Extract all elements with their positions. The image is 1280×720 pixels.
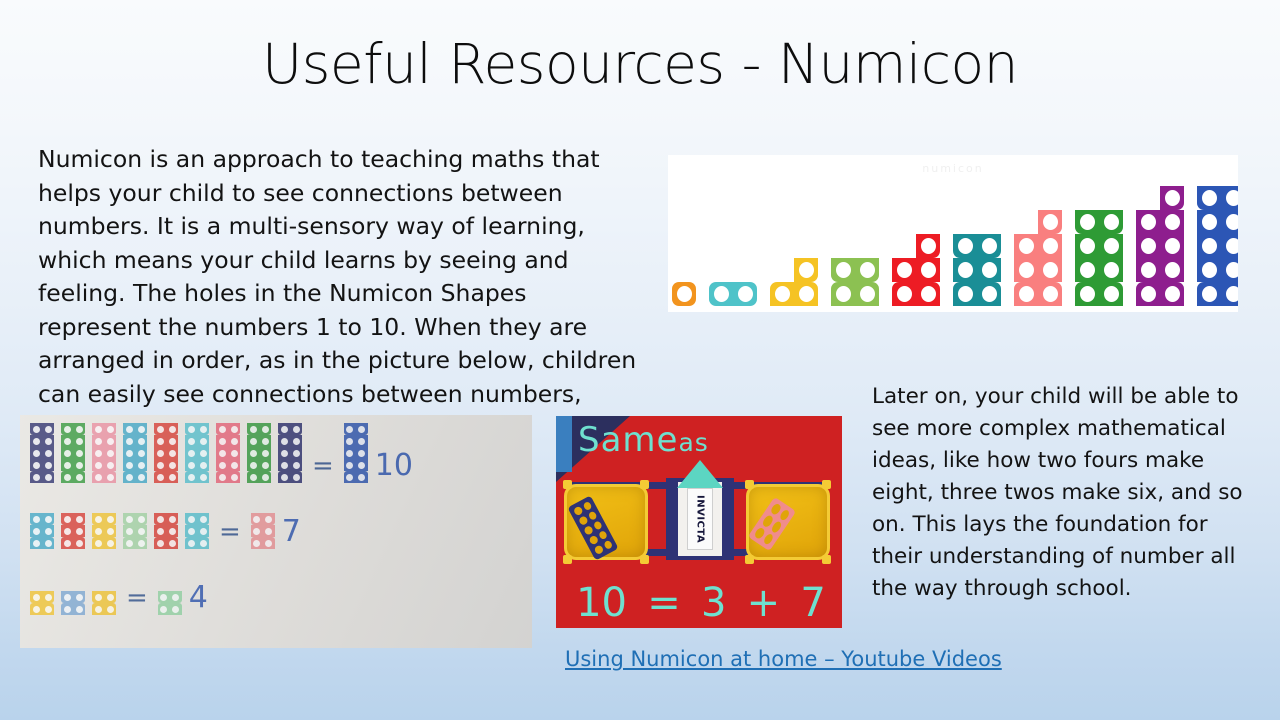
numicon-hole xyxy=(247,447,259,459)
numicon-hole xyxy=(92,471,104,483)
numicon-hole xyxy=(1014,282,1038,306)
numicon-shape-row xyxy=(185,471,209,483)
numicon-hole xyxy=(259,447,271,459)
numicon-hole xyxy=(61,471,73,483)
numicon-shape-row xyxy=(216,459,240,471)
numicon-hole xyxy=(855,258,879,282)
numicon-hole xyxy=(855,282,879,306)
balance-scale-photo: Sameas INVICTA 10=3+7 xyxy=(556,416,842,628)
numicon-shape-group xyxy=(61,423,85,483)
pan-peg xyxy=(822,480,831,489)
numicon-hole xyxy=(1197,186,1221,210)
numicon-hole xyxy=(30,537,42,549)
equation-shape-group xyxy=(154,513,178,549)
numicon-shape-row xyxy=(154,513,178,525)
numicon-hole xyxy=(228,423,240,435)
numicon-hole xyxy=(166,435,178,447)
numicon-hole xyxy=(1160,258,1184,282)
numicon-hole xyxy=(185,423,197,435)
numicon-shape-row xyxy=(344,423,368,435)
numicon-hole xyxy=(92,513,104,525)
numicon-hole xyxy=(344,471,356,483)
numicon-shape-row xyxy=(92,447,116,459)
numicon-hole xyxy=(1099,258,1123,282)
pan-peg xyxy=(745,480,754,489)
numicon-shape-row xyxy=(92,537,116,549)
numicon-hole xyxy=(356,435,368,447)
balance-equation: 10=3+7 xyxy=(566,580,836,626)
numicon-shape-row xyxy=(92,423,116,435)
numicon-hole xyxy=(166,537,178,549)
numicon-shape-row xyxy=(30,471,54,483)
numicon-hole xyxy=(892,258,916,282)
numicon-shape-row xyxy=(770,282,818,306)
numicon-hole xyxy=(170,603,182,615)
numicon-shape-row xyxy=(185,537,209,549)
numicon-hole xyxy=(135,459,147,471)
numicon-hole xyxy=(1038,210,1062,234)
numicon-hole xyxy=(228,471,240,483)
numicon-shape-row xyxy=(30,435,54,447)
numicon-shape-row xyxy=(92,471,116,483)
numicon-shape-group xyxy=(185,423,209,483)
numicon-shape-row xyxy=(185,447,209,459)
numicon-hole xyxy=(1197,210,1221,234)
numicon-hole xyxy=(228,459,240,471)
numicon-shape-row xyxy=(709,282,757,306)
numicon-hole xyxy=(1197,258,1221,282)
board-corner-strip xyxy=(556,416,572,472)
numicon-shape-row xyxy=(1075,282,1123,306)
numicon-hole xyxy=(259,435,271,447)
numicon-hole xyxy=(154,525,166,537)
numicon-shape-row xyxy=(1136,234,1184,258)
numicon-hole xyxy=(123,537,135,549)
numicon-hole xyxy=(290,447,302,459)
numicon-hole xyxy=(61,423,73,435)
numicon-shape-row xyxy=(185,513,209,525)
balance-heading-sub: as xyxy=(678,428,708,457)
numicon-shape-row xyxy=(1014,210,1062,234)
numicon-shape-10 xyxy=(1197,186,1238,306)
numicon-shape-group xyxy=(92,423,116,483)
equation-answer: 10 xyxy=(375,451,413,483)
numicon-hole xyxy=(831,258,855,282)
equation-shape-group xyxy=(123,513,147,549)
equation-shape-group xyxy=(30,591,54,615)
numicon-hole xyxy=(158,603,170,615)
numicon-hole xyxy=(228,447,240,459)
numicon-hole xyxy=(92,435,104,447)
numicon-shape-row xyxy=(831,282,879,306)
numicon-hole xyxy=(216,447,228,459)
equation-shape-group xyxy=(247,423,271,483)
numicon-hole xyxy=(73,471,85,483)
numicon-hole xyxy=(344,447,356,459)
numicon-hole xyxy=(185,471,197,483)
equation-shape-group xyxy=(61,591,85,615)
numicon-shape-row xyxy=(892,282,940,306)
numicon-shape-1 xyxy=(672,282,696,306)
numicon-shape-row xyxy=(61,603,85,615)
numicon-shape-group xyxy=(61,591,85,615)
numicon-hole xyxy=(104,513,116,525)
numicon-hole xyxy=(1014,258,1038,282)
numicon-shape-row xyxy=(61,525,85,537)
numicon-hole xyxy=(135,423,147,435)
equation-shape-group xyxy=(278,423,302,483)
numicon-hole xyxy=(123,525,135,537)
numicon-shape-row xyxy=(154,447,178,459)
numicon-hole xyxy=(916,234,940,258)
numicon-shape-row xyxy=(30,591,54,603)
numicon-hole xyxy=(1136,282,1160,306)
numicon-shape-row xyxy=(123,435,147,447)
numicon-hole xyxy=(92,603,104,615)
numicon-hole xyxy=(123,513,135,525)
numicon-shape-row xyxy=(30,423,54,435)
numicon-shape-group xyxy=(92,513,116,549)
numicon-gap xyxy=(770,258,794,282)
numicon-shape-group xyxy=(278,423,302,483)
numicon-shape-3 xyxy=(770,258,818,306)
numicon-gap xyxy=(1014,210,1038,234)
page-title: Useful Resources - Numicon xyxy=(0,34,1280,95)
numicon-staircase-image: numicon xyxy=(668,155,1238,312)
numicon-shape-row xyxy=(251,537,275,549)
numicon-shape-row xyxy=(61,537,85,549)
numicon-shape-row xyxy=(185,525,209,537)
equation-shape-group xyxy=(154,423,178,483)
numicon-shape-row xyxy=(123,513,147,525)
numicon-shape-row xyxy=(158,603,182,615)
numicon-hole xyxy=(135,513,147,525)
pan-peg xyxy=(640,480,649,489)
numicon-hole xyxy=(197,537,209,549)
numicon-shape-row xyxy=(1136,258,1184,282)
numicon-shape-row xyxy=(251,513,275,525)
numicon-hole xyxy=(1136,258,1160,282)
numicon-hole xyxy=(154,459,166,471)
numicon-hole xyxy=(30,447,42,459)
numicon-hole xyxy=(1221,258,1238,282)
numicon-shape-group xyxy=(30,423,54,483)
numicon-shape-row xyxy=(1197,210,1238,234)
numicon-shape-row xyxy=(953,234,1001,258)
numicon-shape-group xyxy=(344,423,368,483)
numicon-shape-row xyxy=(953,258,1001,282)
numicon-hole xyxy=(73,459,85,471)
numicon-hole xyxy=(42,435,54,447)
numicon-hole xyxy=(154,537,166,549)
numicon-shape-row xyxy=(61,447,85,459)
numicon-shape-9 xyxy=(1136,186,1184,306)
numicon-shape-row xyxy=(344,471,368,483)
numicon-shape-row xyxy=(154,471,178,483)
numicon-shape-row xyxy=(30,603,54,615)
numicon-hole xyxy=(42,423,54,435)
numicon-hole xyxy=(356,447,368,459)
pan-peg xyxy=(563,480,572,489)
numicon-shape-row xyxy=(247,471,271,483)
numicon-hole xyxy=(104,423,116,435)
numicon-hole xyxy=(259,459,271,471)
numicon-hole xyxy=(794,258,818,282)
numicon-hole xyxy=(30,513,42,525)
numicon-hole xyxy=(104,537,116,549)
numicon-shape-group xyxy=(123,423,147,483)
balance-heading: Sameas xyxy=(578,420,709,460)
equation-shape-group xyxy=(61,423,85,483)
numicon-hole xyxy=(92,591,104,603)
numicon-shape-row xyxy=(92,513,116,525)
numicon-hole xyxy=(977,282,1001,306)
numicon-hole xyxy=(42,603,54,615)
numicon-hole xyxy=(185,447,197,459)
numicon-shape-group xyxy=(154,423,178,483)
numicon-hole xyxy=(278,435,290,447)
numicon-shape-row xyxy=(185,423,209,435)
numicon-shape-row xyxy=(185,459,209,471)
numicon-hole xyxy=(166,525,178,537)
numicon-hole xyxy=(1075,282,1099,306)
equation-answer: 4 xyxy=(189,583,208,615)
numicon-hole xyxy=(1221,234,1238,258)
equation-shape-group xyxy=(92,513,116,549)
numicon-shape-row xyxy=(831,258,879,282)
numicon-shape-row xyxy=(92,591,116,603)
left-body-paragraph: Numicon is an approach to teaching maths… xyxy=(38,143,638,445)
numicon-hole xyxy=(30,423,42,435)
numicon-shape-8 xyxy=(1075,210,1123,306)
numicon-hole xyxy=(123,471,135,483)
numicon-hole xyxy=(185,513,197,525)
numicon-hole xyxy=(42,459,54,471)
numicon-hole xyxy=(672,282,696,306)
scale-pointer-icon xyxy=(677,460,723,488)
numicon-shape-row xyxy=(30,513,54,525)
numicon-hole xyxy=(61,525,73,537)
numicon-hole xyxy=(42,447,54,459)
numicon-hole xyxy=(1099,210,1123,234)
numicon-hole xyxy=(197,423,209,435)
numicon-hole xyxy=(1038,282,1062,306)
numicon-shape-group xyxy=(92,591,116,615)
equation-token: 10 xyxy=(576,580,627,626)
numicon-shape-group xyxy=(154,513,178,549)
numicon-shape-row xyxy=(892,258,940,282)
numicon-hole xyxy=(356,459,368,471)
numicon-shape-group xyxy=(185,513,209,549)
equation-shape-group xyxy=(185,423,209,483)
numicon-hole xyxy=(30,591,42,603)
numicon-shape-row xyxy=(1075,234,1123,258)
numicon-hole xyxy=(263,537,275,549)
numicon-shape-2 xyxy=(709,282,757,306)
numicon-hole xyxy=(154,471,166,483)
scale-brand-text: INVICTA xyxy=(695,495,706,543)
equation-answer: 7 xyxy=(282,517,301,549)
numicon-hole xyxy=(166,459,178,471)
numicon-hole xyxy=(1075,258,1099,282)
numicon-hole xyxy=(154,447,166,459)
numicon-hole xyxy=(92,447,104,459)
numicon-hole xyxy=(216,459,228,471)
numicon-shape-row xyxy=(278,447,302,459)
numicon-shape-row xyxy=(30,525,54,537)
numicon-hole xyxy=(197,435,209,447)
numicon-hole xyxy=(278,423,290,435)
numicon-hole xyxy=(953,282,977,306)
numicon-hole xyxy=(1075,210,1099,234)
numicon-hole xyxy=(259,471,271,483)
numicon-shape-5 xyxy=(892,234,940,306)
numicon-shape-group xyxy=(158,591,182,615)
numicon-hole xyxy=(42,471,54,483)
numicon-hole xyxy=(263,513,275,525)
numicon-hole xyxy=(123,423,135,435)
numicon-hole xyxy=(92,537,104,549)
youtube-videos-link[interactable]: Using Numicon at home – Youtube Videos xyxy=(565,647,1002,671)
numicon-hole xyxy=(135,537,147,549)
equation-shape-group xyxy=(123,423,147,483)
numicon-hole xyxy=(1136,234,1160,258)
numicon-hole xyxy=(158,591,170,603)
numicon-hole xyxy=(154,435,166,447)
numicon-shape-row xyxy=(154,525,178,537)
pan-peg xyxy=(563,555,572,564)
numicon-hole xyxy=(185,537,197,549)
numicon-shape-row xyxy=(278,435,302,447)
numicon-hole xyxy=(166,447,178,459)
numicon-hole xyxy=(1136,210,1160,234)
numicon-hole xyxy=(104,525,116,537)
numicon-shape-row xyxy=(1014,282,1062,306)
numicon-shape-row xyxy=(158,591,182,603)
numicon-shape-row xyxy=(216,471,240,483)
numicon-hole xyxy=(42,537,54,549)
equation-row: =4 xyxy=(30,583,208,615)
numicon-hole xyxy=(892,282,916,306)
numicon-shape-row xyxy=(1197,258,1238,282)
numicon-shape-row xyxy=(1136,282,1184,306)
numicon-shape-row xyxy=(154,459,178,471)
numicon-shape-row xyxy=(1014,258,1062,282)
numicon-hole xyxy=(228,435,240,447)
numicon-hole xyxy=(709,282,733,306)
numicon-hole xyxy=(104,435,116,447)
numicon-shape-row xyxy=(1075,210,1123,234)
numicon-hole xyxy=(953,234,977,258)
numicon-shape-row xyxy=(61,423,85,435)
numicon-shape-row xyxy=(61,435,85,447)
numicon-shape-group xyxy=(30,513,54,549)
numicon-shape-row xyxy=(892,234,940,258)
numicon-hole xyxy=(92,525,104,537)
numicon-hole xyxy=(166,423,178,435)
numicon-shape-row xyxy=(123,447,147,459)
numicon-hole xyxy=(290,423,302,435)
numicon-hole xyxy=(247,435,259,447)
numicon-gap xyxy=(1136,186,1160,210)
numicon-hole xyxy=(42,513,54,525)
numicon-hole xyxy=(166,471,178,483)
numicon-equations-photo: =10=7=4 xyxy=(20,415,532,648)
numicon-hole xyxy=(197,525,209,537)
numicon-hole xyxy=(104,471,116,483)
numicon-hole xyxy=(42,591,54,603)
numicon-hole xyxy=(216,435,228,447)
numicon-hole xyxy=(61,513,73,525)
numicon-hole xyxy=(356,423,368,435)
numicon-hole xyxy=(794,282,818,306)
numicon-hole xyxy=(30,603,42,615)
equation-shape-group xyxy=(92,591,116,615)
numicon-hole xyxy=(1160,282,1184,306)
numicon-hole xyxy=(1197,282,1221,306)
numicon-shape-row xyxy=(1197,234,1238,258)
right-body-paragraph: Later on, your child will be able to see… xyxy=(872,381,1244,605)
numicon-shape-row xyxy=(1197,186,1238,210)
numicon-hole xyxy=(73,435,85,447)
numicon-shape-row xyxy=(30,537,54,549)
numicon-hole xyxy=(916,258,940,282)
numicon-hole xyxy=(135,471,147,483)
numicon-shape-row xyxy=(216,447,240,459)
numicon-hole xyxy=(1038,258,1062,282)
numicon-hole xyxy=(123,447,135,459)
scale-brand-label: INVICTA xyxy=(687,488,713,550)
numicon-hole xyxy=(104,603,116,615)
numicon-shape-row xyxy=(1136,186,1184,210)
equation-token: 3 xyxy=(701,580,726,626)
numicon-hole xyxy=(154,513,166,525)
numicon-hole xyxy=(290,435,302,447)
numicon-hole xyxy=(42,525,54,537)
numicon-hole xyxy=(92,423,104,435)
numicon-hole xyxy=(73,537,85,549)
numicon-shape-row xyxy=(278,423,302,435)
numicon-hole xyxy=(73,525,85,537)
numicon-shape-row xyxy=(1136,210,1184,234)
numicon-shape-row xyxy=(278,459,302,471)
numicon-hole xyxy=(290,471,302,483)
numicon-shape-group xyxy=(30,591,54,615)
numicon-hole xyxy=(73,603,85,615)
numicon-hole xyxy=(916,282,940,306)
numicon-hole xyxy=(1197,234,1221,258)
pan-peg xyxy=(822,555,831,564)
numicon-hole xyxy=(73,591,85,603)
numicon-hole xyxy=(1099,282,1123,306)
numicon-hole xyxy=(61,537,73,549)
numicon-hole xyxy=(278,447,290,459)
numicon-hole xyxy=(247,423,259,435)
equation-shape-group xyxy=(185,513,209,549)
equals-sign: = xyxy=(216,519,244,549)
numicon-hole xyxy=(104,591,116,603)
numicon-hole xyxy=(831,282,855,306)
numicon-hole xyxy=(123,435,135,447)
equation-shape-group xyxy=(216,423,240,483)
numicon-hole xyxy=(185,435,197,447)
numicon-shape-row xyxy=(61,513,85,525)
equation-shape-group xyxy=(30,513,54,549)
equation-shape-group xyxy=(92,423,116,483)
equation-row: =10 xyxy=(30,423,413,483)
numicon-hole xyxy=(73,513,85,525)
numicon-shape-row xyxy=(92,459,116,471)
